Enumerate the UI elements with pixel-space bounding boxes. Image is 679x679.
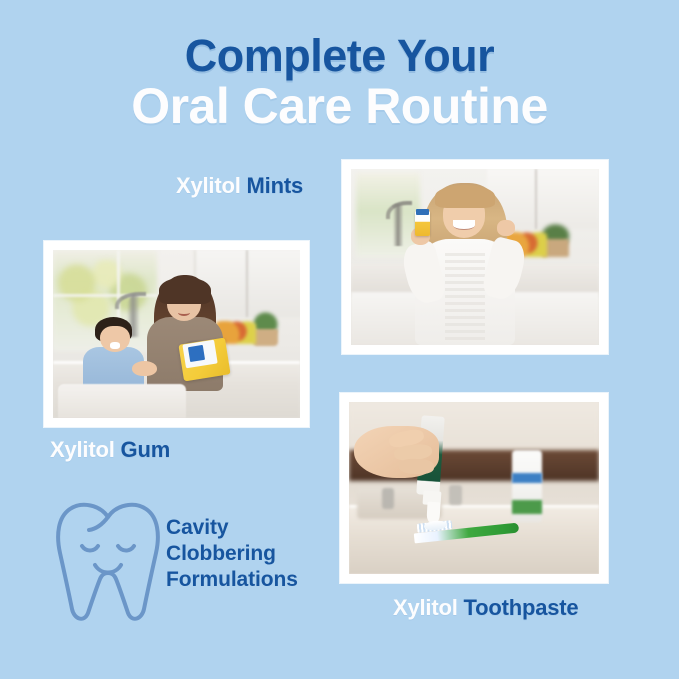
mother-smile (178, 309, 190, 316)
badge-line-2: Clobbering (166, 541, 298, 567)
smiling-tooth-icon (52, 497, 164, 629)
photo-toothpaste (349, 402, 599, 574)
label-toothpaste-product: Toothpaste (464, 595, 579, 620)
faucet (393, 204, 403, 246)
badge-text: Cavity Clobbering Formulations (166, 515, 298, 593)
badge-line-3: Formulations (166, 567, 298, 593)
label-xylitol-gum: Xylitol Gum (50, 437, 170, 463)
mints-bottle-cap (416, 209, 429, 214)
toothpaste-nozzle (426, 501, 440, 522)
label-mints-brand: Xylitol (176, 173, 241, 198)
sweater-knit-texture (445, 253, 485, 341)
cabinet-seam (246, 250, 248, 317)
photo-frame-toothpaste (340, 393, 608, 583)
kitchen-island (58, 384, 186, 418)
page-title: Complete Your Oral Care Routine (0, 34, 679, 131)
finger-3 (399, 458, 435, 475)
label-mints-product: Mints (247, 173, 303, 198)
mints-bottle (415, 211, 430, 236)
label-toothpaste-brand: Xylitol (393, 595, 458, 620)
mouthwash-label-green (512, 500, 542, 514)
boy-mouth (110, 342, 120, 349)
gum-package-blue-panel (188, 345, 205, 362)
mother-hair-front (159, 277, 211, 304)
title-line-1: Complete Your (0, 34, 679, 78)
girl-bangs (435, 185, 495, 208)
label-gum-product: Gum (121, 437, 171, 462)
label-xylitol-mints: Xylitol Mints (176, 173, 303, 199)
sink-handle-left (382, 488, 395, 509)
photo-frame-mints (342, 160, 608, 354)
photo-frame-gum (44, 241, 309, 427)
photo-gum (53, 250, 300, 418)
title-line-2: Oral Care Routine (0, 82, 679, 131)
promo-graphic: Complete Your Oral Care Routine Xylitol … (0, 0, 679, 679)
mouthwash-label-blue (512, 473, 542, 483)
girl-right-hand (497, 220, 514, 236)
boy-hand (132, 361, 157, 376)
cabinet-seam (535, 169, 537, 229)
sink-handle-right (449, 485, 462, 506)
cavity-clobbering-badge: Cavity Clobbering Formulations (52, 497, 322, 632)
label-gum-brand: Xylitol (50, 437, 115, 462)
label-xylitol-toothpaste: Xylitol Toothpaste (393, 595, 578, 621)
photo-mints (351, 169, 599, 345)
plant-pot (253, 329, 278, 346)
girl-smile (453, 220, 475, 230)
badge-line-1: Cavity (166, 515, 298, 541)
